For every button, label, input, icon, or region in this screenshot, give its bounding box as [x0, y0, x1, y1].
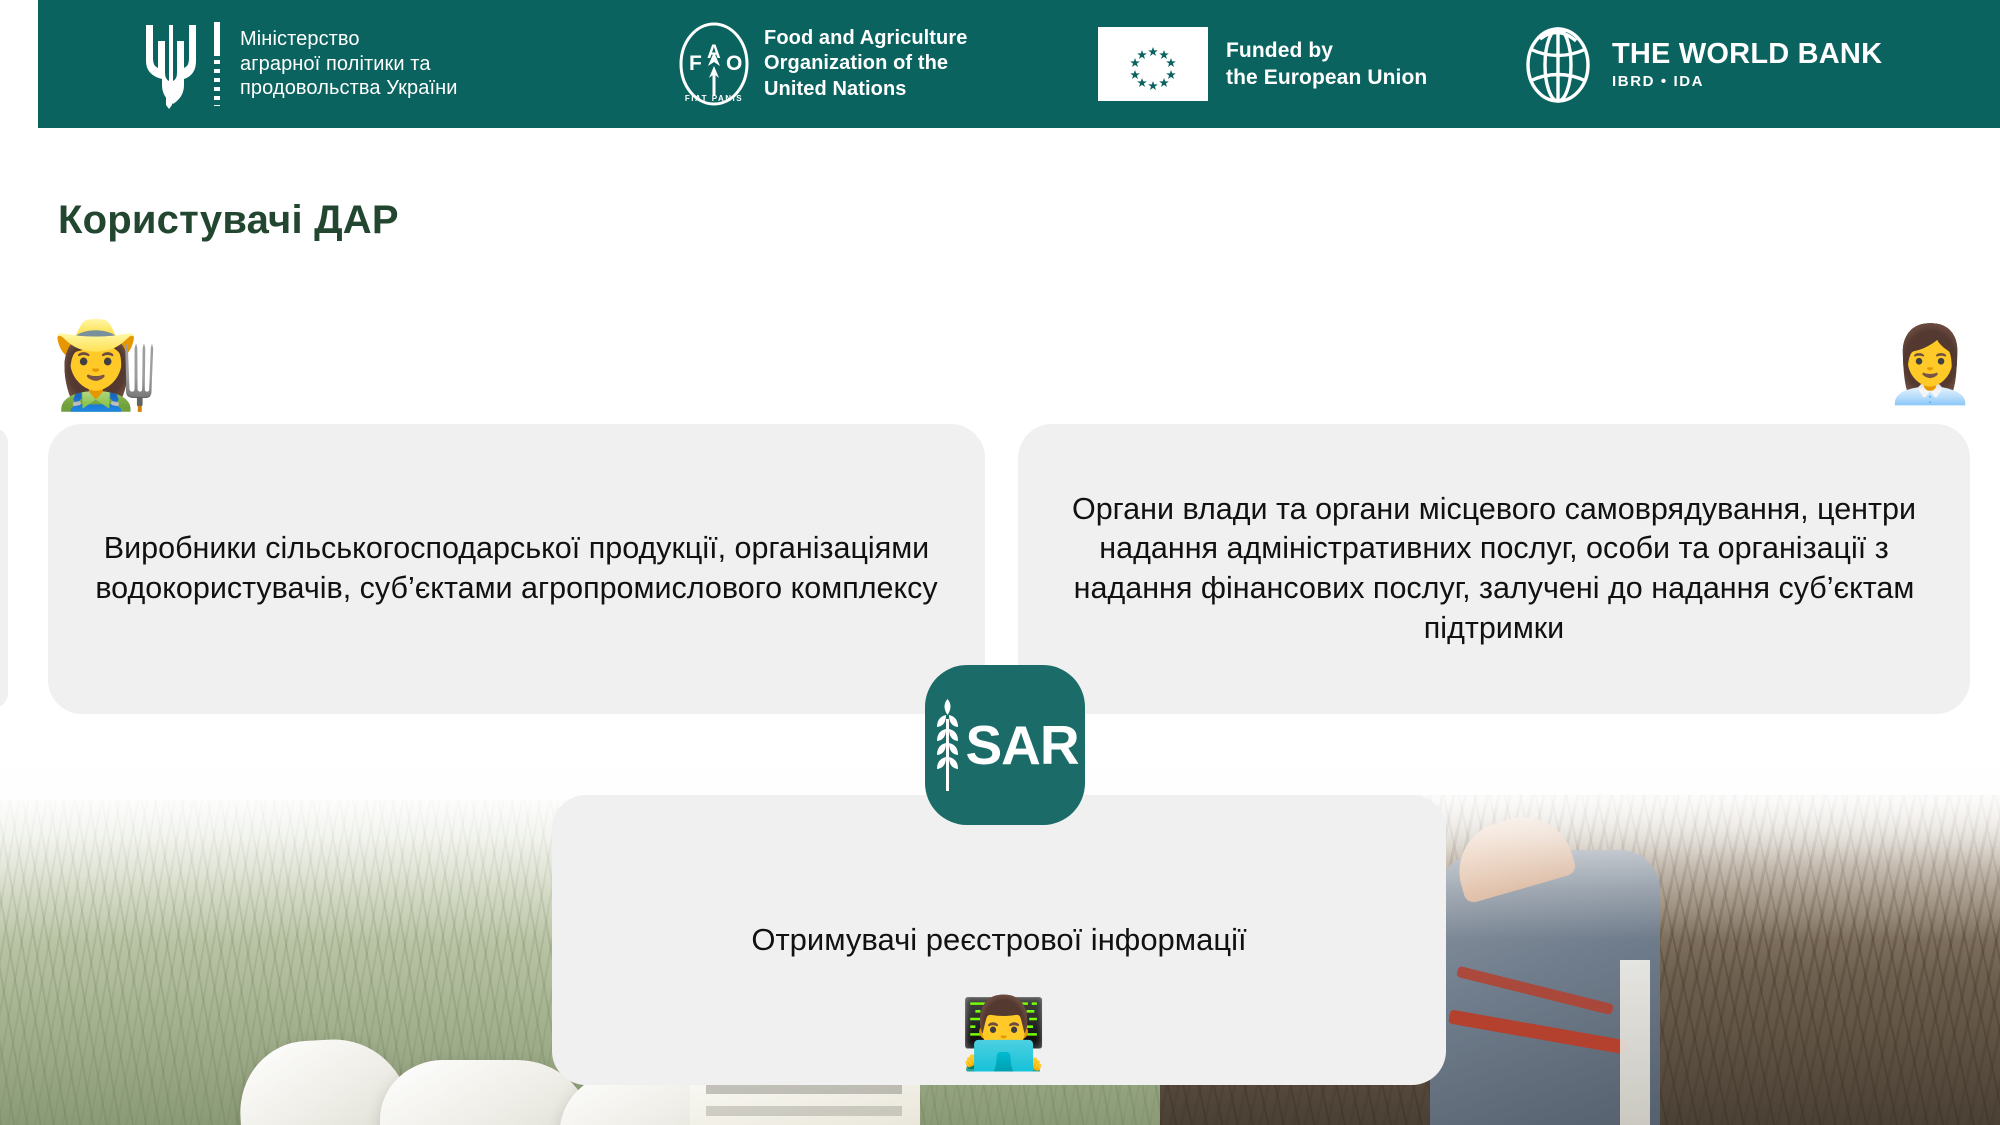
fao-emblem-icon: F A O FIAT PANIS	[678, 22, 750, 106]
logo-divider	[214, 22, 220, 106]
logo-row: Міністерство аграрної політики та продов…	[38, 0, 2000, 128]
sar-logo-inner: SAR	[931, 697, 1078, 793]
logo-world-bank: THE WORLD BANK IBRD • IDA	[1518, 22, 1882, 106]
world-bank-globe-icon	[1518, 23, 1598, 105]
logo-ministry-label: Міністерство аграрної політики та продов…	[240, 27, 458, 101]
card-producers-text: Виробники сільськогосподарської продукці…	[48, 529, 985, 608]
svg-text:O: O	[726, 52, 742, 75]
logo-european-union: Funded by the European Union	[1098, 26, 1427, 102]
svg-text:F: F	[689, 52, 702, 75]
ukraine-trident-icon	[138, 19, 200, 109]
woman-office-worker-emoji-icon: 👩‍💼	[1884, 328, 1976, 402]
eu-flag-icon	[1098, 27, 1208, 101]
logo-fao-label: Food and Agriculture Organization of the…	[764, 26, 967, 103]
world-bank-subtitle: IBRD • IDA	[1612, 73, 1882, 90]
logo-fao: F A O FIAT PANIS Food and Agriculture Or…	[678, 20, 967, 108]
world-bank-title: THE WORLD BANK	[1612, 38, 1882, 71]
card-producers[interactable]: Виробники сільськогосподарської продукці…	[48, 424, 985, 714]
logo-eu-label: Funded by the European Union	[1226, 37, 1427, 92]
partner-logo-header: Міністерство аграрної політики та продов…	[38, 0, 2000, 128]
card-authorities-text: Органи влади та органи місцевого самовря…	[1018, 490, 1970, 649]
card-edge-sliver	[0, 428, 8, 708]
sar-logo-label: SAR	[965, 713, 1078, 777]
svg-text:FIAT PANIS: FIAT PANIS	[685, 94, 743, 103]
page-title: Користувачі ДАР	[58, 198, 399, 243]
card-recipients-text: Отримувачі реєстрової інформації	[725, 920, 1272, 960]
man-technologist-emoji-icon: 👨‍💻	[960, 998, 1047, 1068]
world-bank-texts: THE WORLD BANK IBRD • IDA	[1612, 38, 1882, 90]
sar-app-logo[interactable]: SAR	[925, 665, 1085, 825]
woman-farmer-emoji-icon: 👩‍🌾	[52, 322, 159, 408]
wheat-stalk-icon	[931, 697, 965, 793]
card-authorities[interactable]: Органи влади та органи місцевого самовря…	[1018, 424, 1970, 714]
logo-ministry-of-agrarian-policy: Міністерство аграрної політики та продов…	[138, 18, 458, 110]
